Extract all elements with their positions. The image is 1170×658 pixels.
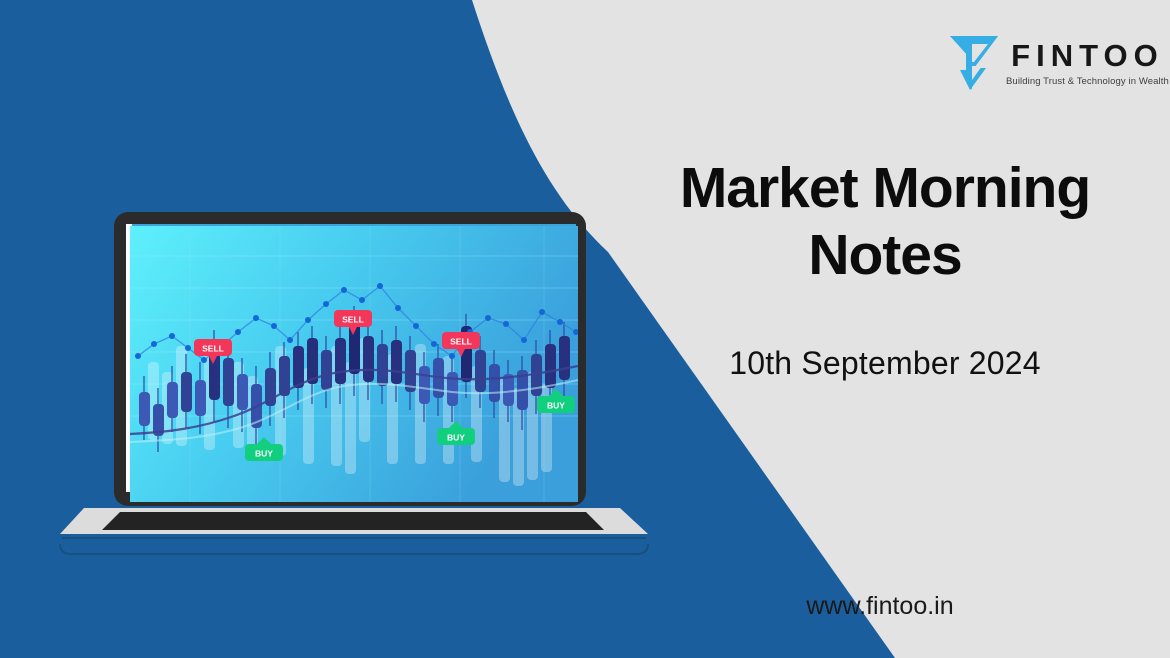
sell-label: SELL	[450, 337, 472, 347]
website-url: www.fintoo.in	[620, 592, 1140, 621]
buy-label: BUY	[447, 433, 465, 443]
page-title: Market Morning Notes	[620, 155, 1150, 288]
fintoo-triangle-f-logo-icon	[948, 34, 1000, 92]
trading-chart: SELL SELL SELL BUY BUY	[130, 226, 578, 502]
buy-label: BUY	[255, 449, 273, 459]
buy-label: BUY	[547, 401, 565, 411]
brand-name: FINTOO	[1011, 40, 1164, 71]
issue-date: 10th September 2024	[620, 345, 1150, 382]
sell-label: SELL	[202, 344, 224, 354]
sell-label: SELL	[342, 315, 364, 325]
brand-logo: FINTOO Building Trust & Technology in We…	[948, 34, 1169, 92]
poster-canvas: FINTOO Building Trust & Technology in We…	[0, 0, 1170, 658]
brand-tagline: Building Trust & Technology in Wealth	[1006, 76, 1169, 87]
